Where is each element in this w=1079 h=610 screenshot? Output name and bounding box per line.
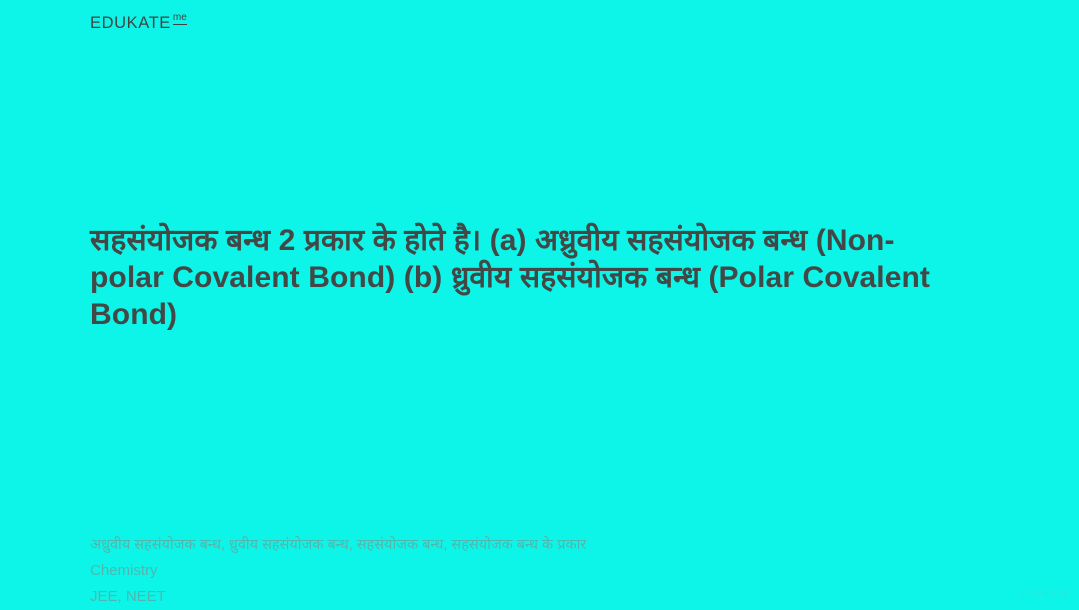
exam-label: JEE, NEET — [90, 584, 990, 610]
brand-suffix: me — [173, 13, 187, 25]
slide-canvas: EDUKATE me सहसंयोजक बन्ध 2 प्रकार के होत… — [0, 0, 1079, 607]
page-title: सहसंयोजक बन्ध 2 प्रकार के होते है। (a) अ… — [90, 222, 940, 333]
meta-block: अध्रुवीय सहसंयोजक बन्ध, ध्रुवीय सहसंयोजक… — [90, 532, 990, 610]
tag-list: अध्रुवीय सहसंयोजक बन्ध, ध्रुवीय सहसंयोजक… — [90, 532, 990, 558]
brand-logo: EDUKATE me — [90, 15, 187, 32]
brand-name: EDUKATE — [90, 15, 171, 32]
watermark-id: 1464/08 — [1019, 586, 1069, 601]
subject-label: Chemistry — [90, 558, 990, 584]
